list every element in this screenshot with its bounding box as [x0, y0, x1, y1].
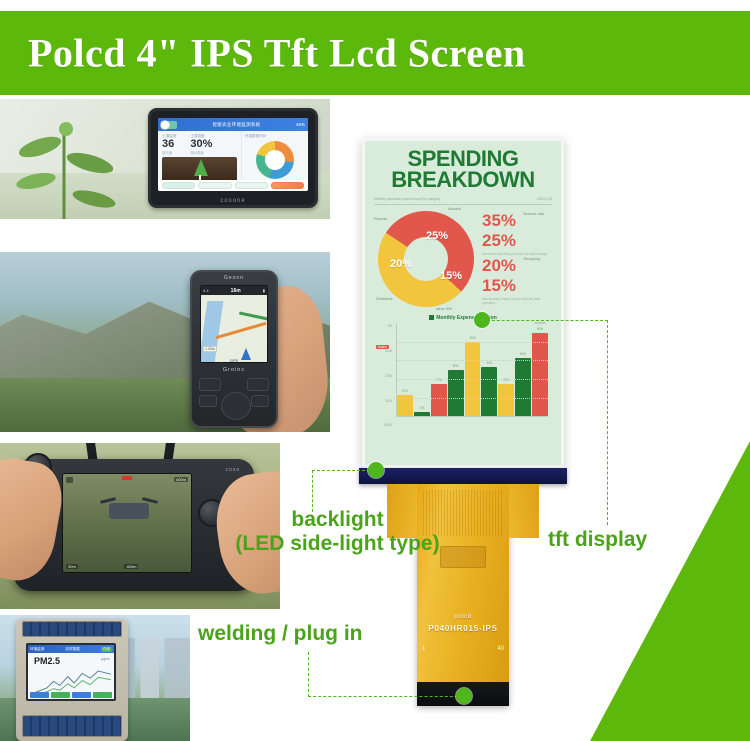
agri-kpi-humidity: 土壤湿度 30% 相对湿度	[190, 134, 212, 155]
pm-metric-title: PM2.5	[34, 656, 60, 666]
agri-tablet-screen: 智能农业环境监测系统 46% 土壤温度 36 摄氏度 土	[158, 118, 308, 191]
agri-kpi-group: 土壤温度 36 摄氏度 土壤湿度 30% 相对湿度	[162, 134, 237, 155]
photo-greenhouse-tablet: 智能农业环境监测系统 46% 土壤温度 36 摄氏度 土	[0, 99, 330, 219]
gps-key-back[interactable]	[199, 378, 221, 391]
header-banner: Polcd 4" IPS Tft Lcd Screen	[0, 11, 750, 95]
product-banner-image: Polcd 4" IPS Tft Lcd Screen 智能农业环境监测系统 4…	[0, 0, 750, 741]
percent-desc: discretionary budget portion with the to…	[482, 297, 552, 305]
gps-key-menu[interactable]	[247, 378, 269, 391]
callout-backlight-line2: (LED side-light type)	[230, 532, 445, 556]
callout-tft-display: tft display	[548, 528, 647, 552]
pm-unit-label: μg/m³	[101, 657, 110, 661]
agri-kpi-humidity-value: 30%	[190, 139, 212, 150]
percent-value: 15%	[482, 277, 516, 294]
donut-and-percent-row: 25% 20% 15% Rooms Alcohol Schedule other…	[374, 208, 552, 312]
screen-subtitle-row: Monthly consumer spend report by categor…	[374, 197, 552, 201]
agri-left-pane: 土壤温度 36 摄氏度 土壤湿度 30% 相对湿度	[158, 131, 241, 180]
gps-keypad[interactable]	[199, 378, 269, 421]
y-tick: 200	[376, 373, 392, 378]
gps-screen: 4 4 16m ▮ 1.00m GPS	[200, 285, 268, 363]
agri-kpi-temp: 土壤温度 36 摄氏度	[162, 134, 176, 155]
corner-wedge-bottom-right	[590, 441, 750, 741]
bar: 7%	[431, 384, 447, 417]
screen-title: SPENDING BREAKDOWN	[374, 149, 552, 191]
callout-dot-welding	[456, 688, 472, 704]
pm-status-center: 实时数据	[65, 647, 79, 652]
y-tick: 40	[376, 323, 392, 328]
y-tick: 200	[376, 398, 392, 403]
agri-right-pane: 环境数据分析	[241, 131, 308, 180]
pm-button-week[interactable]	[51, 692, 70, 698]
callout-backlight: backlight (LED side-light type)	[230, 508, 445, 555]
osd-speed: 400m	[124, 564, 138, 569]
gridline	[397, 398, 548, 399]
pm-button-day[interactable]	[30, 692, 49, 698]
callout-line-backlight-h	[312, 470, 370, 471]
gps-map: 1.00m GPS	[201, 295, 267, 363]
pm-status-left: 环境监测	[30, 647, 44, 652]
solar-panel-bottom	[22, 715, 122, 737]
percent-value: 25%	[482, 232, 516, 249]
map-scale-label: 1.00m	[203, 346, 217, 352]
gps-device: Geonn 4 4 16m ▮ 1.00m GPS Groinc	[190, 270, 278, 428]
bar-label: 5%	[470, 335, 476, 340]
gps-signal-label: 4 4	[203, 288, 209, 293]
agri-kpi-temp-value: 36	[162, 139, 176, 150]
map-road-secondary	[239, 311, 268, 321]
gps-brand-bottom: Groinc	[223, 367, 245, 373]
callout-line-backlight-v	[312, 470, 313, 512]
gridline	[397, 379, 548, 380]
agri-button-3[interactable]	[235, 182, 268, 189]
osd-distance: 30m	[66, 564, 78, 569]
page-title: Polcd 4" IPS Tft Lcd Screen	[28, 30, 526, 77]
legend-swatch-icon	[429, 315, 434, 320]
screen-title-line2: BREAKDOWN	[391, 167, 534, 192]
bar-chart-plot: 2%1%7%9%5%4%3%6%8%	[396, 323, 548, 417]
percent-value: 35%	[482, 212, 516, 229]
agri-kpi-humidity-unit: 相对湿度	[190, 150, 212, 155]
agri-status-dot-icon	[161, 121, 169, 129]
pm-status-badge: 在线	[101, 647, 112, 652]
donut-callout-alcohol: Alcohol	[448, 206, 461, 211]
callout-dot-tft-display	[474, 312, 490, 328]
plant-icon	[194, 159, 208, 176]
pm-screen: 环境监测 实时数据 在线 PM2.5 μg/m³	[26, 643, 116, 701]
donut-chart-wrap: 25% 20% 15% Rooms Alcohol Schedule other…	[374, 208, 478, 312]
agri-topbar: 智能农业环境监测系统 46%	[158, 118, 308, 131]
divider	[374, 204, 552, 205]
percent-row: 35% finance rate	[482, 212, 552, 231]
fpc-pin-first-label: 1	[422, 646, 425, 652]
bar: 3%	[498, 384, 514, 417]
y-axis-ticks: 40 600 200 200 1100	[376, 323, 394, 427]
fpc-pin-last-label: 40	[497, 646, 504, 652]
tomato-plant-icon	[6, 107, 126, 219]
bar: 6%	[515, 358, 531, 416]
pm-statusbar: 环境监测 实时数据 在线	[28, 645, 114, 653]
y-tick: 600	[376, 348, 392, 353]
osd-altitude: 400m	[174, 477, 188, 482]
bar-label: 9%	[453, 363, 459, 368]
percent-list: 35% finance rate 25% household spending …	[482, 208, 552, 306]
gridline	[397, 342, 548, 343]
donut-slice-label-15: 15%	[440, 270, 462, 282]
gps-key-page[interactable]	[199, 395, 217, 407]
position-arrow-icon	[241, 348, 251, 360]
gps-elevation-value: 16m	[231, 288, 241, 294]
gps-dpad[interactable]	[221, 392, 251, 420]
screen-subtitle-left: Monthly consumer spend report by categor…	[374, 197, 440, 201]
percent-tag: finance rate	[523, 212, 544, 217]
bar-label: 2%	[402, 388, 408, 393]
record-indicator-icon	[122, 476, 132, 480]
bar-label: 6%	[520, 351, 526, 356]
map-water	[200, 301, 223, 363]
callout-line-tft-v	[607, 320, 608, 525]
fpc-brand-label: polcd	[417, 614, 509, 620]
agri-body: 土壤温度 36 摄氏度 土壤湿度 30% 相对湿度	[158, 131, 308, 180]
driver-pcb-strip	[359, 468, 567, 484]
percent-tag: Shopping	[523, 257, 540, 262]
settings-icon[interactable]	[66, 477, 73, 483]
photo-handheld-gps: Geonn 4 4 16m ▮ 1.00m GPS Groinc	[0, 252, 330, 432]
bar: 1%	[414, 412, 430, 417]
agri-tablet-device: 智能农业环境监测系统 46% 土壤温度 36 摄氏度 土	[148, 108, 318, 208]
percent-row: 20% Shopping	[482, 257, 552, 276]
controller-screen: 400m 30m 400m	[62, 473, 192, 573]
callout-line-tft-h	[482, 320, 608, 321]
agri-button-2[interactable]	[198, 182, 231, 189]
bar: 4%	[481, 367, 497, 416]
gps-key-enter[interactable]	[251, 395, 269, 407]
gps-map-footer: GPS	[230, 358, 238, 363]
pm-button-month[interactable]	[72, 692, 91, 698]
agri-device-brand: cosone	[220, 198, 245, 204]
fpc-driver-ic	[440, 546, 486, 568]
tft-module: SPENDING BREAKDOWN Monthly consumer spen…	[362, 138, 564, 706]
percent-row: 25% household spending ratio per the tot…	[482, 232, 552, 256]
solar-panel-top	[22, 621, 122, 637]
gridline	[397, 360, 548, 361]
donut-callout-schedule: Schedule	[376, 296, 393, 301]
pm-button-year[interactable]	[93, 692, 112, 698]
bar: 8%	[532, 333, 548, 417]
donut-slice-label-25: 25%	[426, 230, 448, 242]
fpv-osd: 400m 30m 400m	[63, 474, 191, 572]
percent-value: 20%	[482, 257, 516, 274]
donut-callout-other: other 5%	[436, 306, 452, 311]
gps-statusbar: 4 4 16m ▮	[201, 286, 267, 295]
fpc-shoulder-right	[509, 484, 539, 538]
callout-dot-backlight	[368, 462, 384, 478]
bar-label: 8%	[537, 326, 543, 331]
agri-panel-title: 环境数据分析	[245, 134, 305, 139]
donut-slice-label-20: 20%	[390, 258, 412, 270]
y-tick: 1100	[376, 422, 392, 427]
donut-callout-rooms: Rooms	[374, 216, 387, 221]
tft-display-panel: SPENDING BREAKDOWN Monthly consumer spen…	[362, 138, 564, 468]
callout-line-welding-v	[308, 652, 309, 697]
callout-backlight-line1: backlight	[230, 508, 445, 532]
air-quality-station: 环境监测 实时数据 在线 PM2.5 μg/m³	[16, 619, 128, 741]
screen-content-infographic: SPENDING BREAKDOWN Monthly consumer spen…	[365, 141, 561, 465]
battery-icon: ▮	[263, 288, 265, 293]
screen-subtitle-right: 2024 | Q3	[537, 197, 552, 201]
percent-row: 15% discretionary budget portion with th…	[482, 277, 552, 305]
photo-pm25-station: 环境监测 实时数据 在线 PM2.5 μg/m³	[0, 615, 190, 741]
agri-kpi-temp-unit: 摄氏度	[162, 150, 176, 155]
callout-line-welding-h	[308, 696, 458, 697]
agri-topbar-percent: 46%	[296, 122, 305, 127]
agri-topbar-title: 智能农业环境监测系统	[180, 122, 293, 128]
callout-welding: welding / plug in	[198, 622, 362, 646]
bar-label: 1%	[419, 405, 425, 410]
agri-button-row	[158, 180, 308, 191]
pm-button-row	[28, 691, 114, 699]
agri-button-1[interactable]	[162, 182, 195, 189]
map-road-primary	[216, 322, 267, 339]
bar-chart: subtitle Index 40 600 200 200 1100 2%1%7…	[376, 323, 548, 427]
controller-brand: coso	[225, 467, 240, 473]
gps-brand-top: Geonn	[192, 275, 276, 281]
fpc-model-label: P040HR015-IPS	[417, 624, 509, 633]
agri-donut-chart	[256, 141, 294, 179]
agri-button-4[interactable]	[271, 182, 304, 189]
bar: 9%	[448, 370, 464, 417]
